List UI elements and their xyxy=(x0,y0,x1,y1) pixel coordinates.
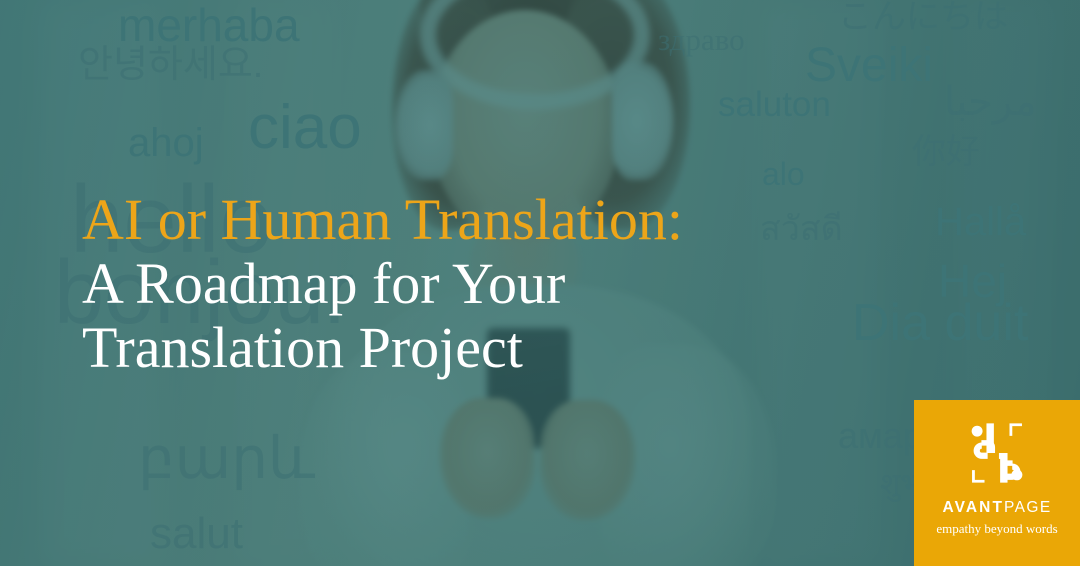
logo-wordmark-regular: PAGE xyxy=(1004,499,1052,516)
page-title: AI or Human Translation: A Roadmap for Y… xyxy=(82,188,862,380)
avantpage-logo-icon xyxy=(958,414,1036,492)
title-line-1: AI or Human Translation: xyxy=(82,188,862,252)
logo-wordmark: AVANTPAGE xyxy=(942,500,1051,516)
avantpage-logo-badge[interactable]: AVANTPAGE empathy beyond words xyxy=(914,400,1080,566)
title-line-2: A Roadmap for Your xyxy=(82,252,862,316)
logo-wordmark-bold: AVANT xyxy=(942,499,1004,516)
hero-banner: merhabaこんにちはздраво안녕하세요.Sveikisalutoncia… xyxy=(0,0,1080,566)
title-line-3: Translation Project xyxy=(82,316,862,380)
logo-tagline: empathy beyond words xyxy=(936,522,1057,535)
